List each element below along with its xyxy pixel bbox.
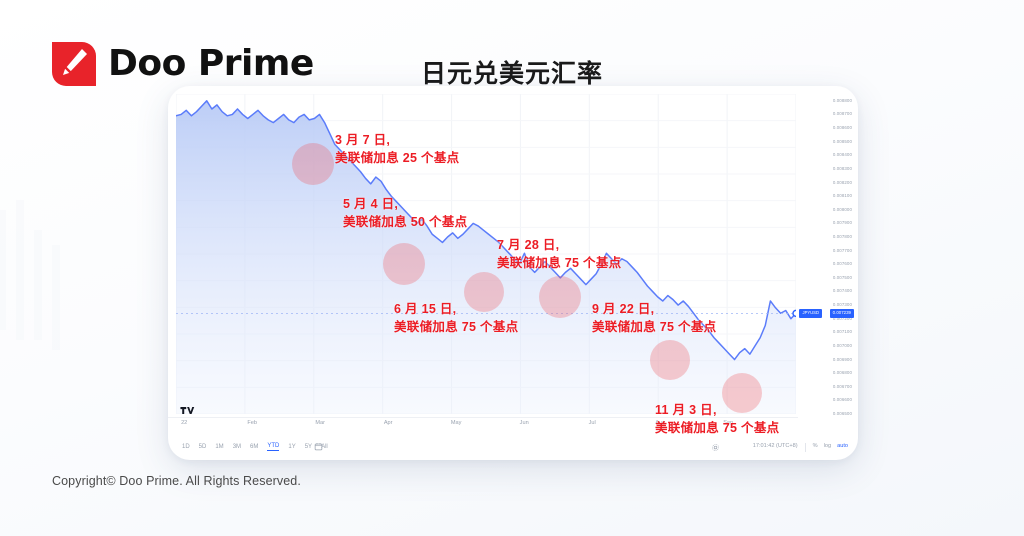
chart-clock: 17:01:42 (UTC+8) [753, 444, 798, 450]
price-axis-tick: 0.006900 [833, 358, 852, 362]
time-range-buttons[interactable]: 1D5D1M3M6MYTD1Y5YAll [182, 443, 328, 451]
price-axis[interactable]: 0.0088000.0087000.0086000.0085000.008400… [800, 94, 858, 416]
range-button-1d[interactable]: 1D [182, 444, 190, 450]
last-price-marker [793, 310, 796, 316]
price-axis-tick: 0.007400 [833, 289, 852, 293]
annotation-fed-jun-15: 6 月 15 日,美联储加息 75 个基点 [394, 300, 518, 336]
range-button-1y[interactable]: 1Y [288, 444, 295, 450]
annotation-date: 11 月 3 日, [655, 401, 779, 419]
copyright-text: Copyright© Doo Prime. All Rights Reserve… [52, 474, 301, 488]
annotation-date: 6 月 15 日, [394, 300, 518, 318]
price-axis-tick: 0.006600 [833, 398, 852, 402]
annotation-fed-nov-3: 11 月 3 日,美联储加息 75 个基点 [655, 401, 779, 437]
page-background: Doo Prime 日元兑美元汇率 0 [0, 0, 1024, 536]
price-axis-tick: 0.006700 [833, 385, 852, 389]
price-axis-tick: 0.007500 [833, 276, 852, 280]
event-highlight-fed-may-4 [383, 243, 425, 285]
range-button-5y[interactable]: 5Y [305, 444, 312, 450]
price-axis-tick: 0.007800 [833, 235, 852, 239]
chart-toolbar: 1D5D1M3M6MYTD1Y5YAll 17:01:42 (UTC+8) %l… [168, 434, 858, 460]
time-axis-tick: 22 [181, 421, 187, 427]
range-button-5d[interactable]: 5D [199, 444, 207, 450]
gear-icon[interactable] [711, 443, 720, 452]
price-axis-tick: 0.007000 [833, 344, 852, 348]
price-axis-tick: 0.007900 [833, 221, 852, 225]
scale-option-auto[interactable]: auto [837, 443, 848, 449]
calendar-icon[interactable] [314, 442, 323, 451]
annotation-date: 9 月 22 日, [592, 300, 716, 318]
price-axis-tick: 0.007300 [833, 303, 852, 307]
scale-option-percent[interactable]: % [813, 443, 818, 449]
annotation-fed-jul-28: 7 月 28 日,美联储加息 75 个基点 [497, 236, 621, 272]
annotation-fed-mar-7: 3 月 7 日,美联储加息 25 个基点 [335, 131, 459, 167]
price-axis-tick: 0.008500 [833, 140, 852, 144]
annotation-date: 5 月 4 日, [343, 195, 467, 213]
time-axis-tick: May [451, 421, 462, 427]
annotation-date: 7 月 28 日, [497, 236, 621, 254]
current-price-tag: 0.007239 [830, 309, 854, 318]
price-axis-tick: 0.008400 [833, 153, 852, 157]
price-axis-tick: 0.008200 [833, 181, 852, 185]
range-button-3m[interactable]: 3M [233, 444, 241, 450]
event-highlight-fed-sep-22 [650, 340, 690, 380]
price-axis-tick: 0.008600 [833, 126, 852, 130]
annotation-detail: 美联储加息 75 个基点 [592, 318, 716, 336]
annotation-detail: 美联储加息 75 个基点 [497, 254, 621, 272]
page-title: 日元兑美元汇率 [0, 54, 1024, 90]
annotation-detail: 美联储加息 25 个基点 [335, 149, 459, 167]
time-axis-tick: Feb [247, 421, 257, 427]
price-axis-tick: 0.007100 [833, 330, 852, 334]
range-button-1m[interactable]: 1M [215, 444, 223, 450]
price-axis-tick: 0.007600 [833, 262, 852, 266]
annotation-detail: 美联储加息 75 个基点 [655, 419, 779, 437]
price-axis-tick: 0.008800 [833, 99, 852, 103]
price-chart-plot[interactable] [176, 94, 796, 414]
annotation-detail: 美联储加息 75 个基点 [394, 318, 518, 336]
annotation-fed-may-4: 5 月 4 日,美联储加息 50 个基点 [343, 195, 467, 231]
event-highlight-fed-jul-28 [539, 276, 581, 318]
time-axis-tick: Jun [520, 421, 529, 427]
time-axis-tick: Mar [315, 421, 325, 427]
annotation-fed-sep-22: 9 月 22 日,美联储加息 75 个基点 [592, 300, 716, 336]
time-axis-tick: Apr [384, 421, 393, 427]
price-axis-tick: 0.006500 [833, 412, 852, 416]
scale-option-log[interactable]: log [824, 443, 831, 449]
price-axis-tick: 0.006800 [833, 371, 852, 375]
range-button-ytd[interactable]: YTD [267, 443, 279, 451]
range-button-6m[interactable]: 6M [250, 444, 258, 450]
chart-toolbar-right: 17:01:42 (UTC+8) %logauto [753, 443, 848, 452]
price-axis-tick: 0.007700 [833, 249, 852, 253]
annotation-date: 3 月 7 日, [335, 131, 459, 149]
annotation-detail: 美联储加息 50 个基点 [343, 213, 467, 231]
price-axis-tick: 0.008700 [833, 112, 852, 116]
symbol-price-tag: JPYUSD [799, 309, 822, 318]
time-axis-tick: Jul [589, 421, 596, 427]
toolbar-divider [805, 443, 806, 452]
event-highlight-fed-mar-7 [292, 143, 334, 185]
price-axis-tick: 0.008100 [833, 194, 852, 198]
scale-options[interactable]: %logauto [813, 444, 848, 450]
price-axis-tick: 0.008300 [833, 167, 852, 171]
tradingview-logo-icon[interactable] [180, 405, 196, 416]
price-axis-tick: 0.008000 [833, 208, 852, 212]
